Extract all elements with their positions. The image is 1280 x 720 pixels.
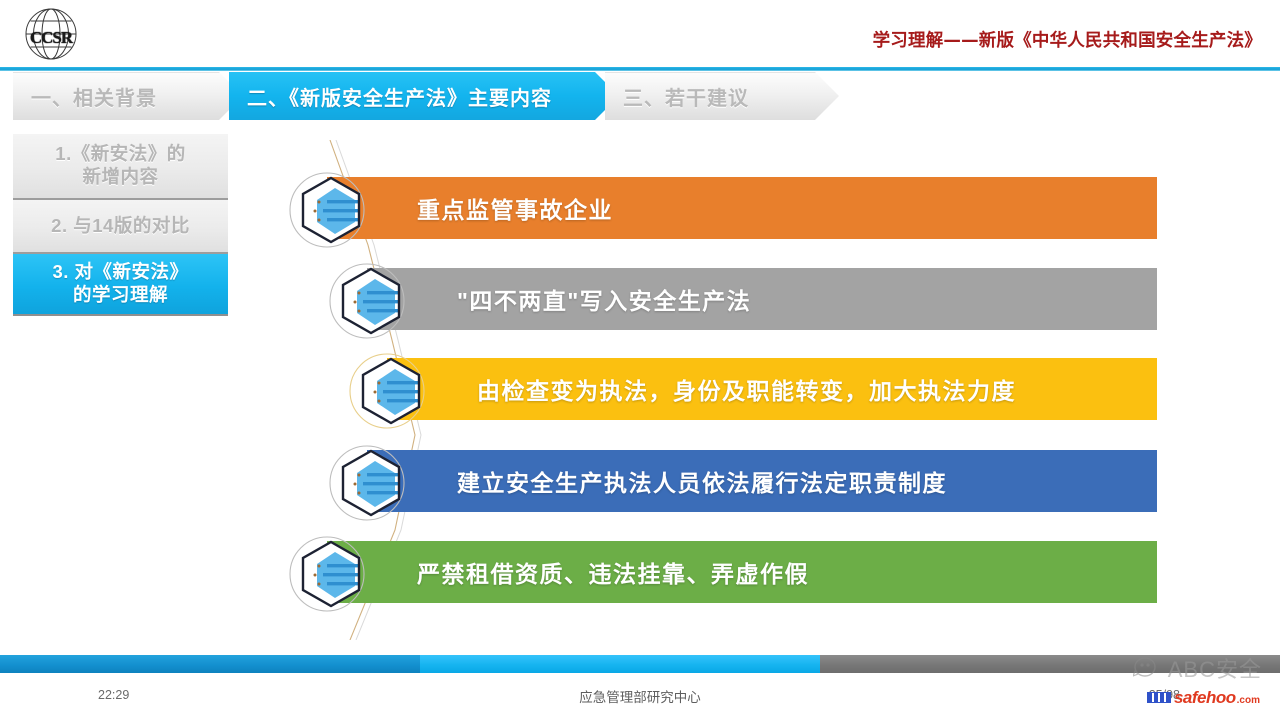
bar-list-hex-icon	[325, 253, 417, 345]
list-hex-icon	[325, 435, 417, 527]
content-bar-list: 重点监管事故企业"四不两直"写入安全生产法由检查变为执法，身份及职能转变，加大执…	[0, 0, 1280, 720]
slide-canvas: CCSR 学习理解——新版《中华人民共和国安全生产法》 一、相关背景 二、《新版…	[0, 0, 1280, 720]
footer-center-text: 应急管理部研究中心	[0, 686, 1280, 706]
watermark-brand-text: ABC安全	[1168, 652, 1262, 684]
watermark-safehoo-suffix: .com	[1237, 695, 1260, 706]
content-bar-row: "四不两直"写入安全生产法	[367, 268, 1157, 330]
watermark-abc-anquan: ABC安全	[1133, 652, 1262, 684]
bar-list-hex-icon	[325, 435, 417, 527]
content-bar-row: 建立安全生产执法人员依法履行法定职责制度	[367, 450, 1157, 512]
footer-bar-segment-center	[420, 655, 820, 673]
list-hex-icon	[285, 162, 377, 254]
watermark-safehoo-mark	[1147, 692, 1171, 703]
content-bar-label: 建立安全生产执法人员依法履行法定职责制度	[457, 464, 947, 498]
content-bar-label: "四不两直"写入安全生产法	[457, 282, 751, 316]
list-hex-icon	[325, 253, 417, 345]
content-bar-row: 严禁租借资质、违法挂靠、弄虚作假	[327, 541, 1157, 603]
footer-bar-segment-left	[0, 655, 420, 673]
bar-list-hex-icon	[285, 526, 377, 618]
list-hex-icon	[285, 526, 377, 618]
content-bar[interactable]: 由检查变为执法，身份及职能转变，加大执法力度	[387, 358, 1157, 420]
footer-color-bar	[0, 655, 1280, 673]
bar-list-hex-icon	[285, 162, 377, 254]
list-hex-icon	[345, 343, 437, 435]
bar-list-hex-icon	[345, 343, 437, 435]
content-bar[interactable]: 严禁租借资质、违法挂靠、弄虚作假	[327, 541, 1157, 603]
watermark-safehoo: safehoo .com	[1147, 688, 1260, 708]
content-bar-row: 由检查变为执法，身份及职能转变，加大执法力度	[387, 358, 1157, 420]
content-bar[interactable]: "四不两直"写入安全生产法	[367, 268, 1157, 330]
content-bar-label: 严禁租借资质、违法挂靠、弄虚作假	[417, 555, 809, 589]
content-bar-label: 由检查变为执法，身份及职能转变，加大执法力度	[477, 372, 1016, 406]
content-bar[interactable]: 建立安全生产执法人员依法履行法定职责制度	[367, 450, 1157, 512]
content-bar[interactable]: 重点监管事故企业	[327, 177, 1157, 239]
content-bar-row: 重点监管事故企业	[327, 177, 1157, 239]
watermark-safehoo-text: safehoo	[1174, 688, 1236, 708]
wechat-ghost-icon	[1133, 655, 1163, 681]
content-bar-label: 重点监管事故企业	[417, 191, 613, 225]
